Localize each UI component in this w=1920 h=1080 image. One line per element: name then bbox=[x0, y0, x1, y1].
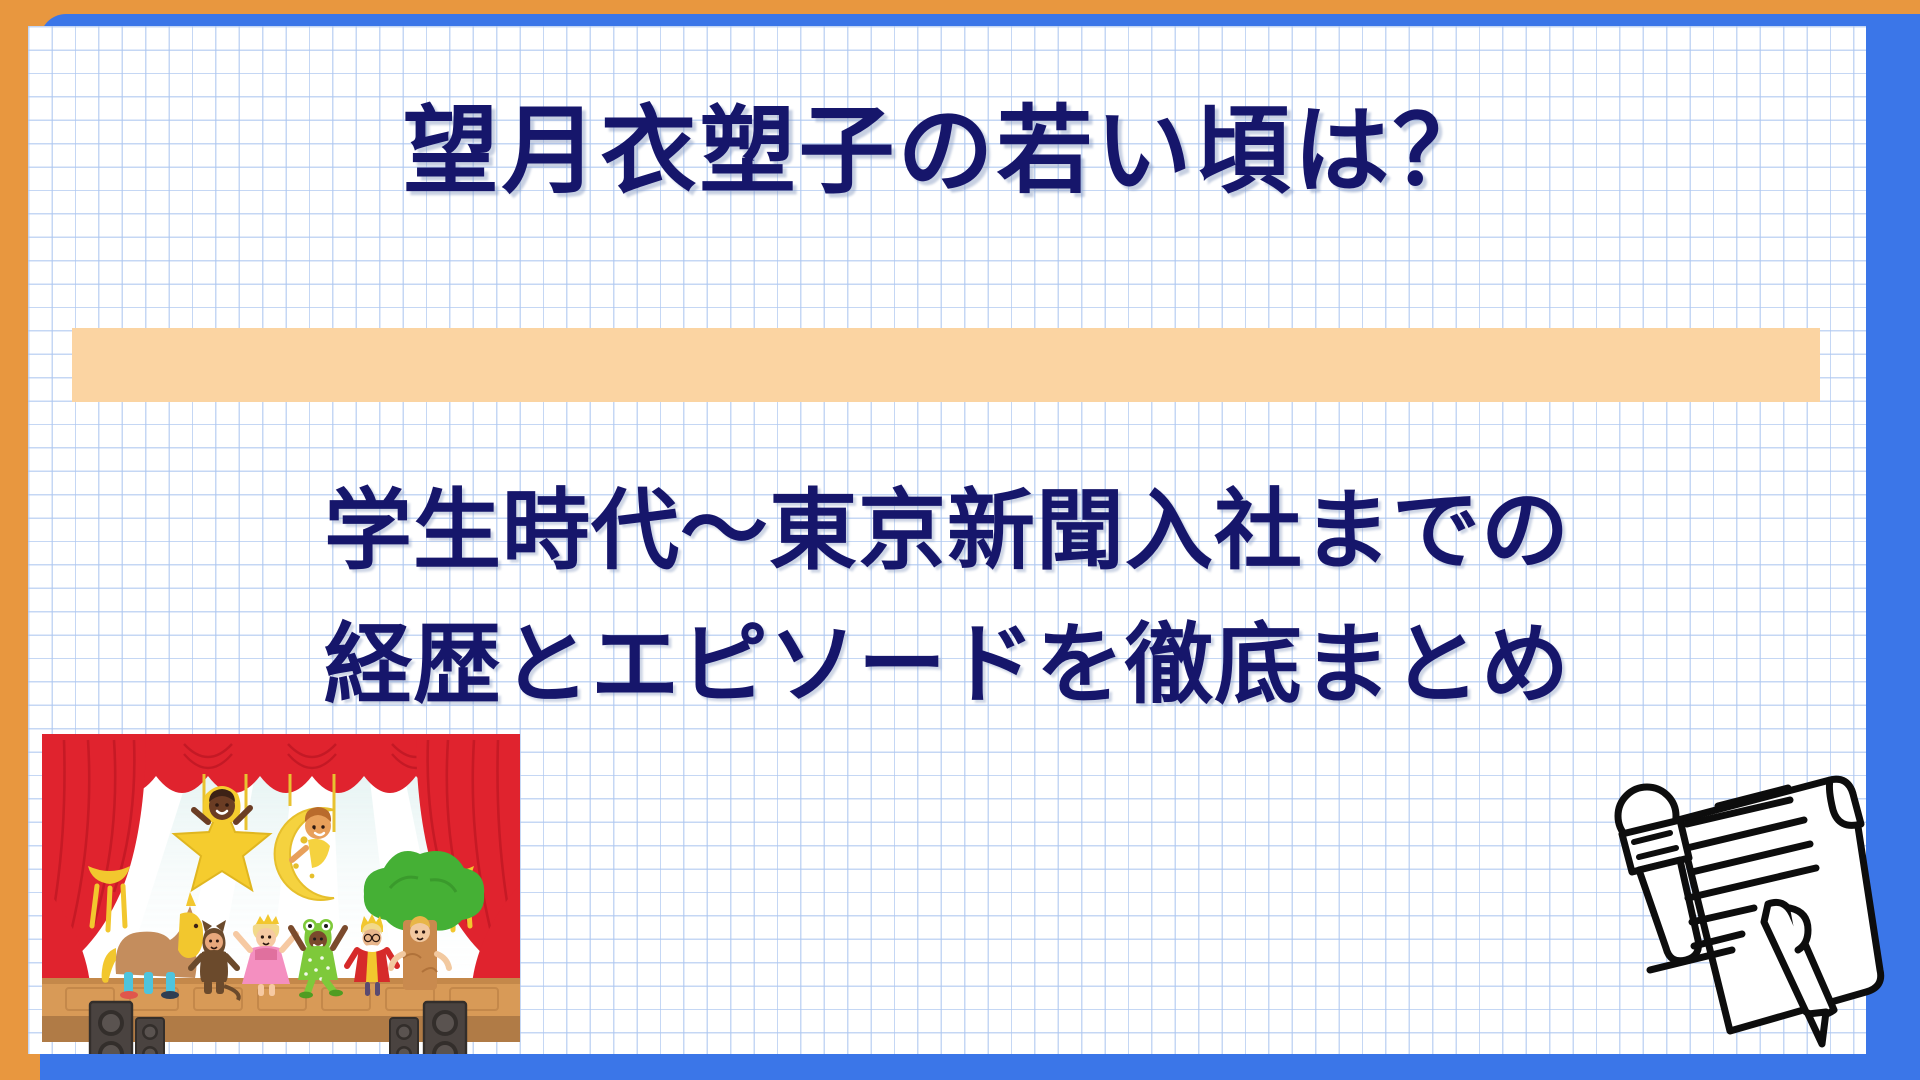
body-text-line-1: 学生時代〜東京新聞入社までの bbox=[28, 464, 1866, 598]
grid-paper-card: 望月衣塑子の若い頃は？ 学生時代〜東京新聞入社までの 経歴とエピソードを徹底まと… bbox=[28, 26, 1866, 1054]
slide-root: 望月衣塑子の若い頃は？ 学生時代〜東京新聞入社までの 経歴とエピソードを徹底まと… bbox=[0, 0, 1920, 1080]
body-text-block: 学生時代〜東京新聞入社までの 経歴とエピソードを徹底まとめ bbox=[28, 464, 1866, 732]
page-title: 望月衣塑子の若い頃は？ bbox=[28, 98, 1866, 206]
microphone-document-pen-icon bbox=[1592, 758, 1892, 1058]
kids-stage-performance-illustration bbox=[42, 734, 520, 1054]
highlight-bar bbox=[72, 328, 1820, 402]
body-text-line-2: 経歴とエピソードを徹底まとめ bbox=[28, 598, 1866, 732]
